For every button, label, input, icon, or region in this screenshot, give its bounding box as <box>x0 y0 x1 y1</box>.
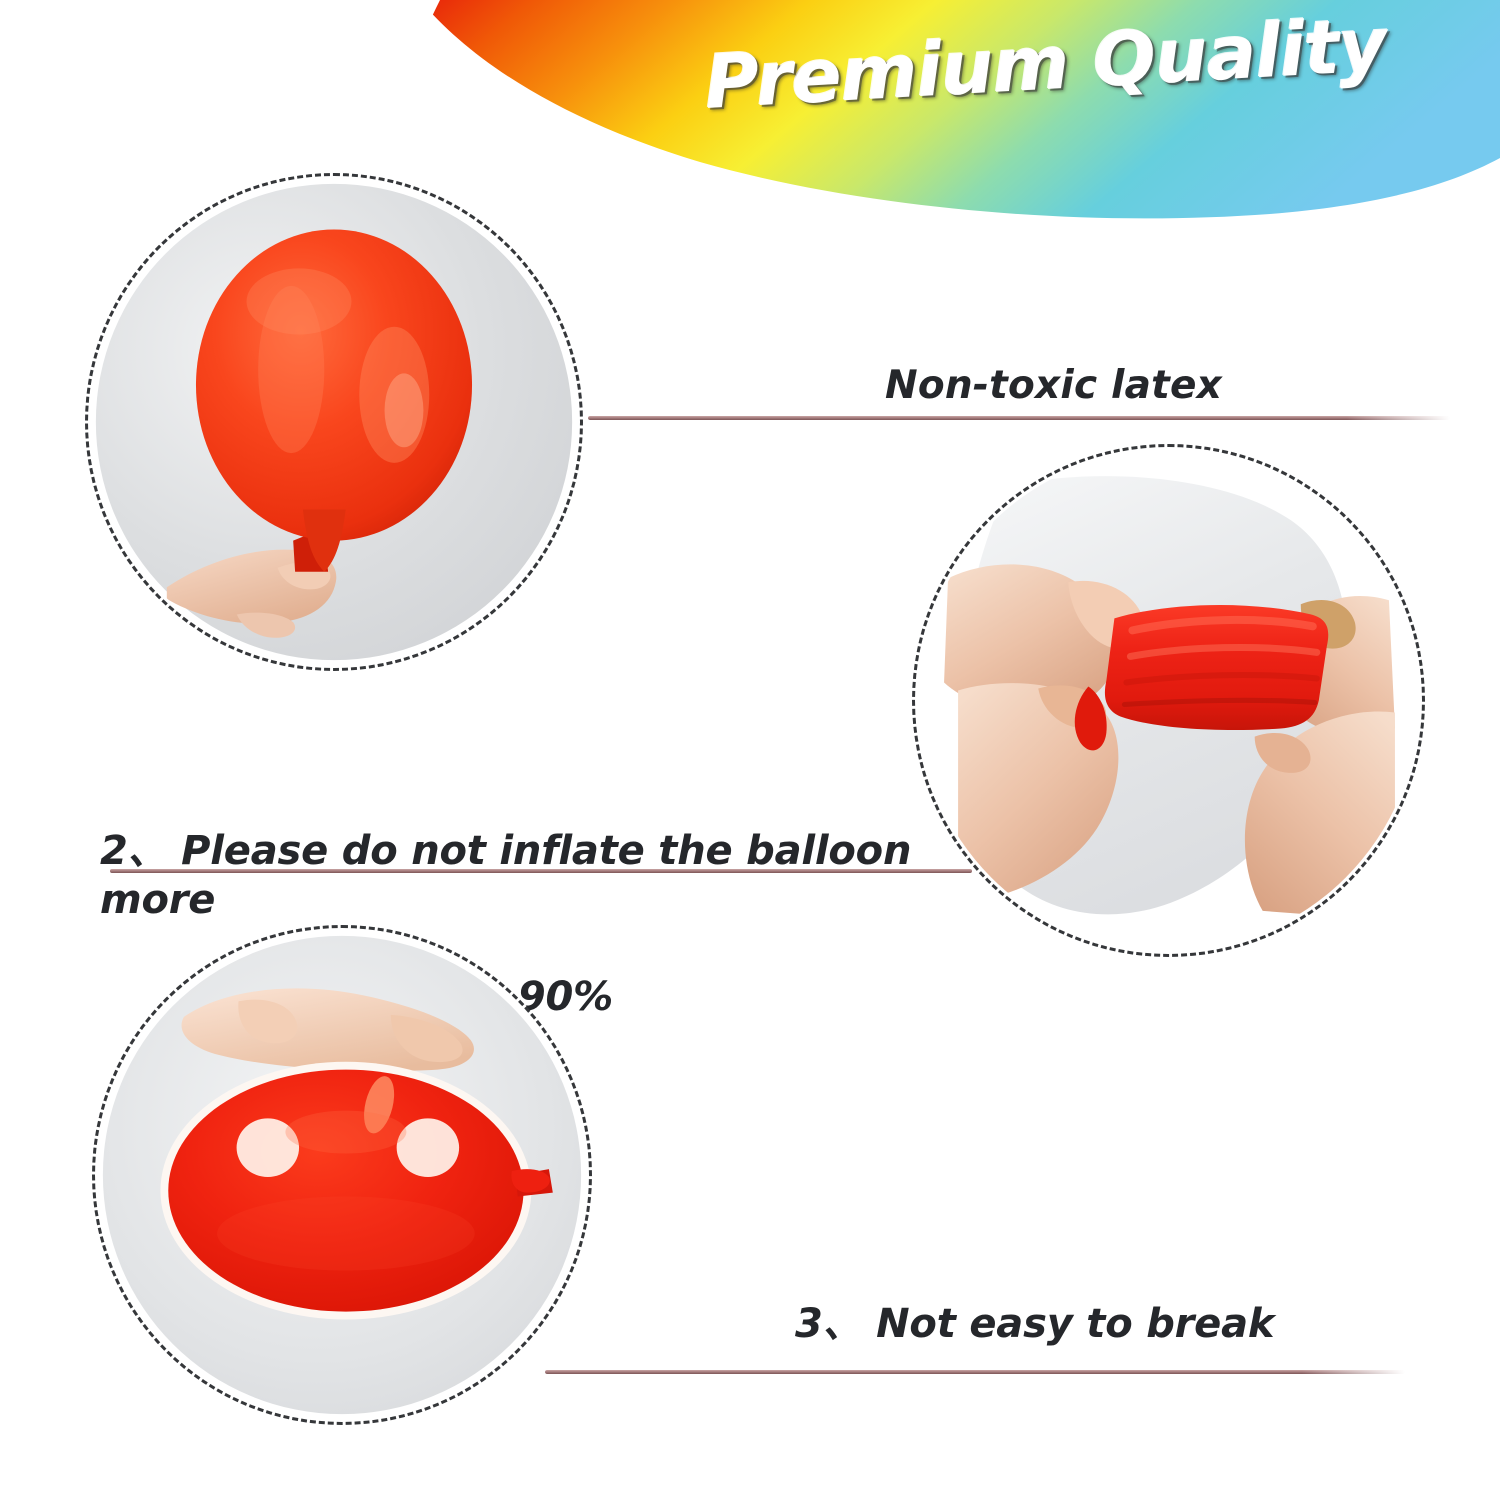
balloon-inflated-illustration <box>91 179 577 665</box>
feature-label-3: 3、 Not easy to break <box>795 1300 1274 1349</box>
feature-photo-3-pressing-balloon <box>92 925 592 1425</box>
leader-line-1 <box>588 416 1450 420</box>
leader-line-3 <box>545 1370 1405 1374</box>
feature-photo-2-stretching-balloon <box>912 444 1425 957</box>
feature-photo-2-image <box>918 450 1419 951</box>
balloon-press-illustration <box>98 931 586 1419</box>
header-banner: Premium Quality <box>0 0 1500 230</box>
feature-label-1: Non-toxic latex <box>885 362 1222 410</box>
feature-photo-1-image <box>91 179 577 665</box>
balloon-stretch-illustration <box>918 450 1419 951</box>
infographic-page: Premium Quality <box>0 0 1500 1500</box>
banner-gradient-wave <box>0 0 1500 230</box>
feature-photo-1-inflated-balloon <box>85 173 583 671</box>
feature-label-2-line-1: 2、 Please do not inflate the balloon mor… <box>100 827 915 925</box>
feature-photo-3-image <box>98 931 586 1419</box>
